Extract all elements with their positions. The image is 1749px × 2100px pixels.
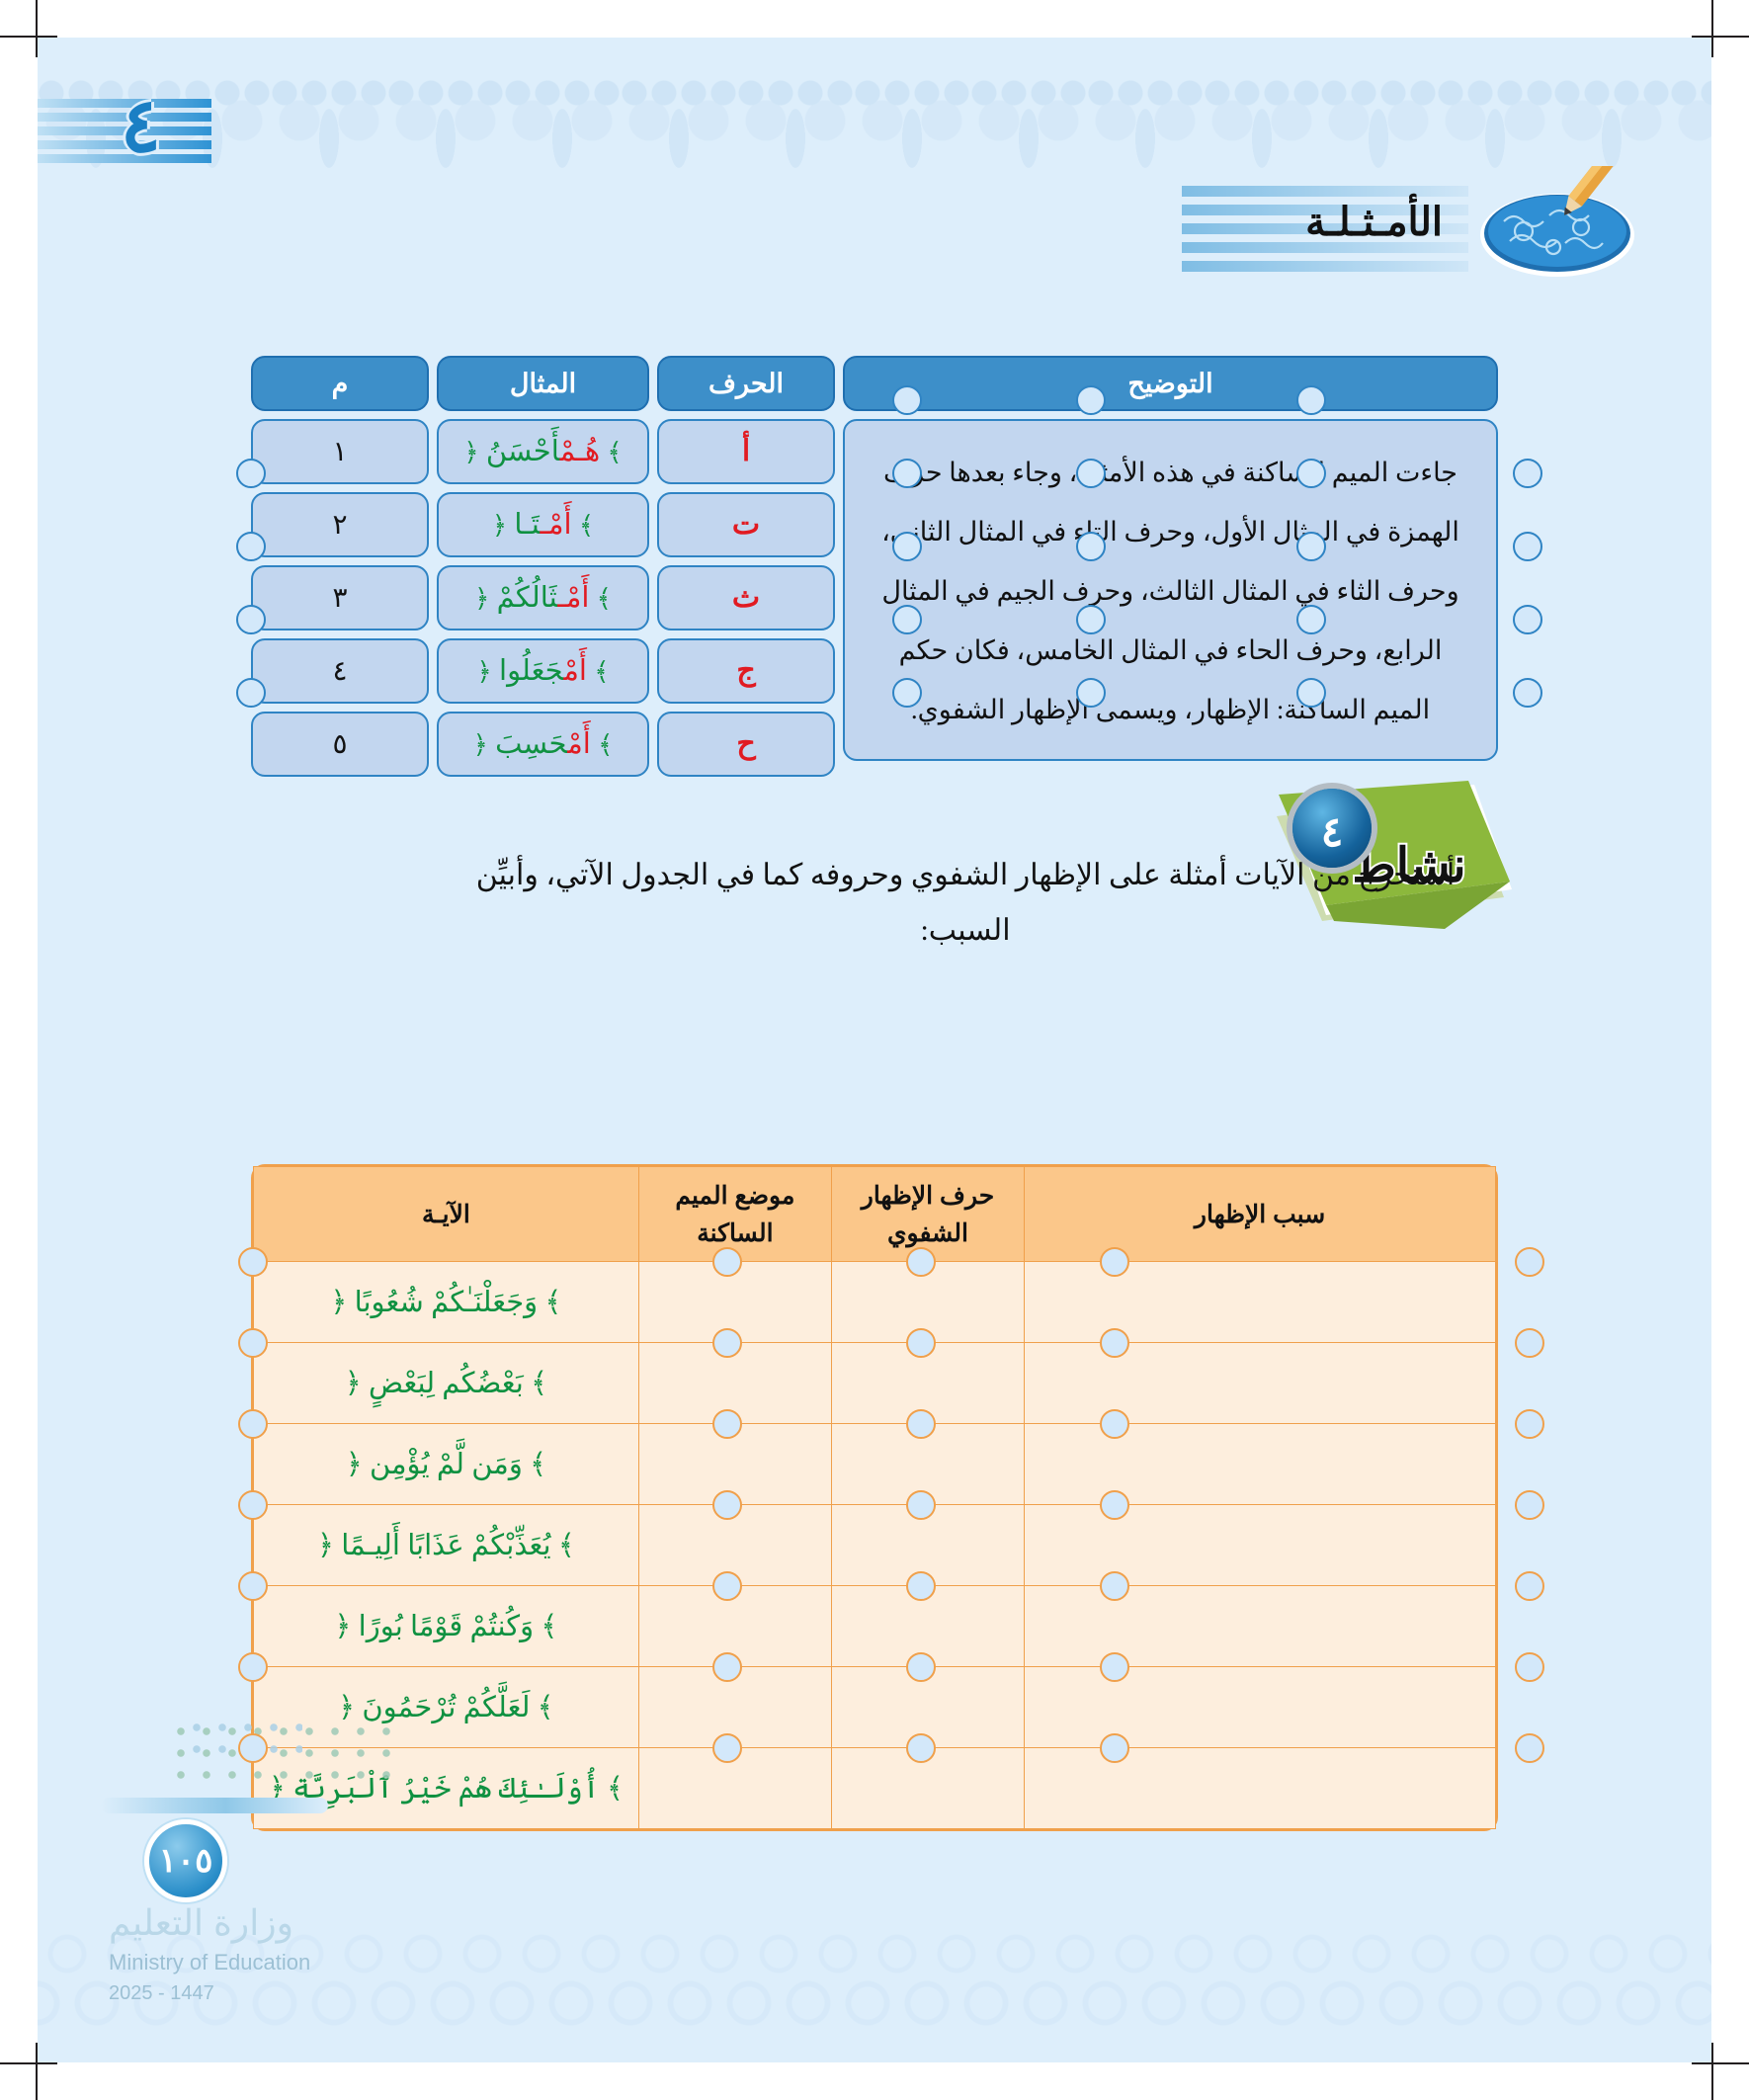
connector-node <box>892 678 922 708</box>
connector-node <box>238 1733 268 1763</box>
logo-swoosh <box>101 1798 328 1813</box>
connector-node <box>238 1409 268 1439</box>
connector-node <box>1100 1571 1129 1601</box>
connector-node <box>1513 605 1542 634</box>
table-row: ﴾ بَعْضُكُم لِبَعْضٍ ﴿ <box>254 1343 1496 1424</box>
connector-node <box>1076 605 1106 634</box>
cell-reason[interactable] <box>1025 1748 1496 1829</box>
cell-ayah: ﴾ يُعَذِّبْكُمْ عَذَابًا أَلِيـمًا ﴿ <box>254 1505 639 1586</box>
connector-node <box>1296 385 1326 415</box>
connector-node <box>238 1652 268 1682</box>
ministry-name-en: Ministry of Education <box>109 1950 310 1975</box>
activity-table-head: سبب الإظهار حرف الإظهار الشفوي موضع المي… <box>254 1167 1496 1262</box>
table-cell-letter: ح <box>657 712 835 777</box>
index-column: ١ ٢ ٣ ٤ ٥ <box>251 419 429 777</box>
table-cell-index: ٢ <box>251 492 429 557</box>
connector-node <box>236 605 266 634</box>
col-header-position: موضع الميم الساكنة <box>638 1167 831 1262</box>
table-cell-index: ٥ <box>251 712 429 777</box>
ministry-name-ar: وزارة التعليم <box>109 1902 293 1944</box>
table-row: ﴾ وَكُنتُمْ قَوْمًا بُورًا ﴿ <box>254 1586 1496 1667</box>
crop-mark-right-bottom <box>1692 2062 1749 2064</box>
examples-heading-label: الأمـثـلـة <box>1305 200 1443 245</box>
cell-ayah: ﴾ بَعْضُكُم لِبَعْضٍ ﴿ <box>254 1343 639 1424</box>
table-cell-example: ﴾ هُـمْأَحْسَنُ ﴿ <box>437 419 649 484</box>
table-cell-example: ﴾ أَمْـثَالُكُمْ ﴿ <box>437 565 649 630</box>
table-cell-example: ﴾ أَمْـتَـا ﴿ <box>437 492 649 557</box>
connector-node <box>1100 1490 1129 1520</box>
connector-node <box>906 1652 936 1682</box>
example-rest: أَحْسَنُ <box>486 436 560 467</box>
connector-node <box>1515 1490 1544 1520</box>
connector-node <box>238 1571 268 1601</box>
example-rest: تَـا <box>514 509 540 541</box>
table-cell-index: ٤ <box>251 638 429 704</box>
example-column: ﴾ هُـمْأَحْسَنُ ﴿ ﴾ أَمْـتَـا ﴿ ﴾ أَمْـث… <box>437 419 649 777</box>
cell-ayah: ﴾ وَجَعَلْنَـٰكُمْ شُعُوبًا ﴿ <box>254 1262 639 1343</box>
connector-node <box>892 532 922 561</box>
examples-table: التوضيح الحرف المثال م جاءت الميم الساكن… <box>251 356 1498 777</box>
connector-node <box>1513 532 1542 561</box>
table-cell-letter: ث <box>657 565 835 630</box>
col-header-ayah: الآيـة <box>254 1167 639 1262</box>
example-rest: ثَالُكُمْ <box>497 582 558 614</box>
activity-table-body: ﴾ وَجَعَلْنَـٰكُمْ شُعُوبًا ﴿ ﴾ بَعْضُكُ… <box>254 1262 1496 1829</box>
cell-reason[interactable] <box>1025 1343 1496 1424</box>
connector-node <box>906 1490 936 1520</box>
page-number: ١٠٥ <box>144 1819 227 1902</box>
connector-node <box>892 605 922 634</box>
connector-node <box>1100 1247 1129 1277</box>
chapter-tab: ٤ <box>38 97 225 168</box>
activity-table: سبب الإظهار حرف الإظهار الشفوي موضع المي… <box>251 1164 1498 1831</box>
example-mim: أَمْـ <box>557 582 589 614</box>
connector-node <box>1513 678 1542 708</box>
connector-node <box>1296 532 1326 561</box>
connector-node <box>1515 1652 1544 1682</box>
connector-node <box>236 459 266 488</box>
pencil-disc-icon <box>1455 166 1652 285</box>
cell-reason[interactable] <box>1025 1505 1496 1586</box>
connector-node <box>892 385 922 415</box>
example-mim: أَمْـ <box>541 509 572 541</box>
connector-node <box>1100 1328 1129 1358</box>
connector-node <box>236 678 266 708</box>
connector-node <box>906 1328 936 1358</box>
table-cell-index: ١ <box>251 419 429 484</box>
connector-node <box>1076 385 1106 415</box>
example-rest: جَعَلُوا <box>499 655 563 687</box>
col-header-letter: حرف الإظهار الشفوي <box>831 1167 1024 1262</box>
connector-node <box>1515 1247 1544 1277</box>
connector-node <box>236 532 266 561</box>
connector-node <box>1100 1733 1129 1763</box>
col-header-index: م <box>251 356 429 411</box>
connector-node <box>712 1490 742 1520</box>
explanation-column: جاءت الميم الساكنة في هذه الأمثلة، وجاء … <box>843 419 1498 777</box>
table-row: ﴾ يُعَذِّبْكُمْ عَذَابًا أَلِيـمًا ﴿ <box>254 1505 1496 1586</box>
table-cell-example: ﴾ أَمْجَعَلُوا ﴿ <box>437 638 649 704</box>
page-sheet: ٤ الأمـثـلـة <box>38 38 1711 2062</box>
table-cell-letter: أ <box>657 419 835 484</box>
crop-mark-left-bottom <box>0 2062 57 2064</box>
connector-node <box>712 1247 742 1277</box>
table-row: ﴾ وَمَن لَّمْ يُؤْمِن ﴿ <box>254 1424 1496 1505</box>
activity-header-row: سبب الإظهار حرف الإظهار الشفوي موضع المي… <box>254 1167 1496 1262</box>
textbook-page: ٤ الأمـثـلـة <box>0 0 1749 2100</box>
connector-node <box>1076 459 1106 488</box>
connector-node <box>1076 678 1106 708</box>
connector-node <box>1100 1409 1129 1439</box>
connector-node <box>712 1328 742 1358</box>
connector-node <box>712 1409 742 1439</box>
cell-reason[interactable] <box>1025 1424 1496 1505</box>
connector-node <box>1515 1571 1544 1601</box>
explanation-cell: جاءت الميم الساكنة في هذه الأمثلة، وجاء … <box>843 419 1498 761</box>
cell-reason[interactable] <box>1025 1586 1496 1667</box>
connector-node <box>1296 678 1326 708</box>
connector-node <box>1515 1328 1544 1358</box>
ornament-band-top <box>38 77 1711 168</box>
connector-node <box>906 1571 936 1601</box>
example-rest: حَسِبَ <box>495 728 567 760</box>
connector-node <box>1515 1733 1544 1763</box>
table-row: ﴾ لَعَلَّكُمْ تُرْحَمُونَ ﴿ <box>254 1667 1496 1748</box>
connector-node <box>712 1652 742 1682</box>
table-cell-index: ٣ <box>251 565 429 630</box>
table-cell-letter: ج <box>657 638 835 704</box>
connector-node <box>906 1247 936 1277</box>
connector-node <box>712 1571 742 1601</box>
crop-mark-right-top <box>1692 36 1749 38</box>
activity-instruction: أستخرج من الآيات أمثلة على الإظهار الشفو… <box>457 848 1474 959</box>
chapter-number: ٤ <box>121 89 161 164</box>
example-mim: هُـمْ <box>560 436 601 467</box>
connector-node <box>1515 1409 1544 1439</box>
col-header-letter: الحرف <box>657 356 835 411</box>
crop-mark-bottom-right <box>1711 2043 1713 2100</box>
heading-stripe <box>1182 186 1468 197</box>
col-header-example: المثال <box>437 356 649 411</box>
crop-mark-top-left <box>36 0 38 57</box>
heading-stripe <box>1182 261 1468 272</box>
ministry-year: 2025 - 1447 <box>109 1982 214 2005</box>
col-header-explanation: التوضيح <box>843 356 1498 411</box>
letter-column: أ ت ث ج ح <box>657 419 835 777</box>
cell-reason[interactable] <box>1025 1262 1496 1343</box>
connector-node <box>1513 459 1542 488</box>
crop-mark-bottom-left <box>36 2043 38 2100</box>
connector-node <box>712 1733 742 1763</box>
table-cell-letter: ت <box>657 492 835 557</box>
connector-node <box>906 1409 936 1439</box>
cell-ayah: ﴾ وَكُنتُمْ قَوْمًا بُورًا ﴿ <box>254 1586 639 1667</box>
connector-node <box>1296 605 1326 634</box>
connector-node <box>238 1247 268 1277</box>
connector-node <box>238 1328 268 1358</box>
crop-mark-left-top <box>0 36 57 38</box>
cell-reason[interactable] <box>1025 1667 1496 1748</box>
col-header-reason: سبب الإظهار <box>1025 1167 1496 1262</box>
table-row: ﴾ أُوْلَـٰئِكَ هُمْ خَيْرُ ٱلْبَرِيَّةِ … <box>254 1748 1496 1829</box>
connector-node <box>1076 532 1106 561</box>
connector-node <box>1296 459 1326 488</box>
example-mim: أَمْ <box>563 655 587 687</box>
crop-mark-top-right <box>1711 0 1713 57</box>
activity-table-grid: سبب الإظهار حرف الإظهار الشفوي موضع المي… <box>253 1166 1496 1829</box>
connector-node <box>892 459 922 488</box>
examples-heading: الأمـثـلـة <box>1123 174 1636 293</box>
connector-node <box>1100 1652 1129 1682</box>
connector-node <box>238 1490 268 1520</box>
cell-ayah: ﴾ وَمَن لَّمْ يُؤْمِن ﴿ <box>254 1424 639 1505</box>
example-mim: أَمْ <box>567 728 591 760</box>
table-row: ﴾ وَجَعَلْنَـٰكُمْ شُعُوبًا ﴿ <box>254 1262 1496 1343</box>
connector-node <box>906 1733 936 1763</box>
table-cell-example: ﴾ أَمْحَسِبَ ﴿ <box>437 712 649 777</box>
